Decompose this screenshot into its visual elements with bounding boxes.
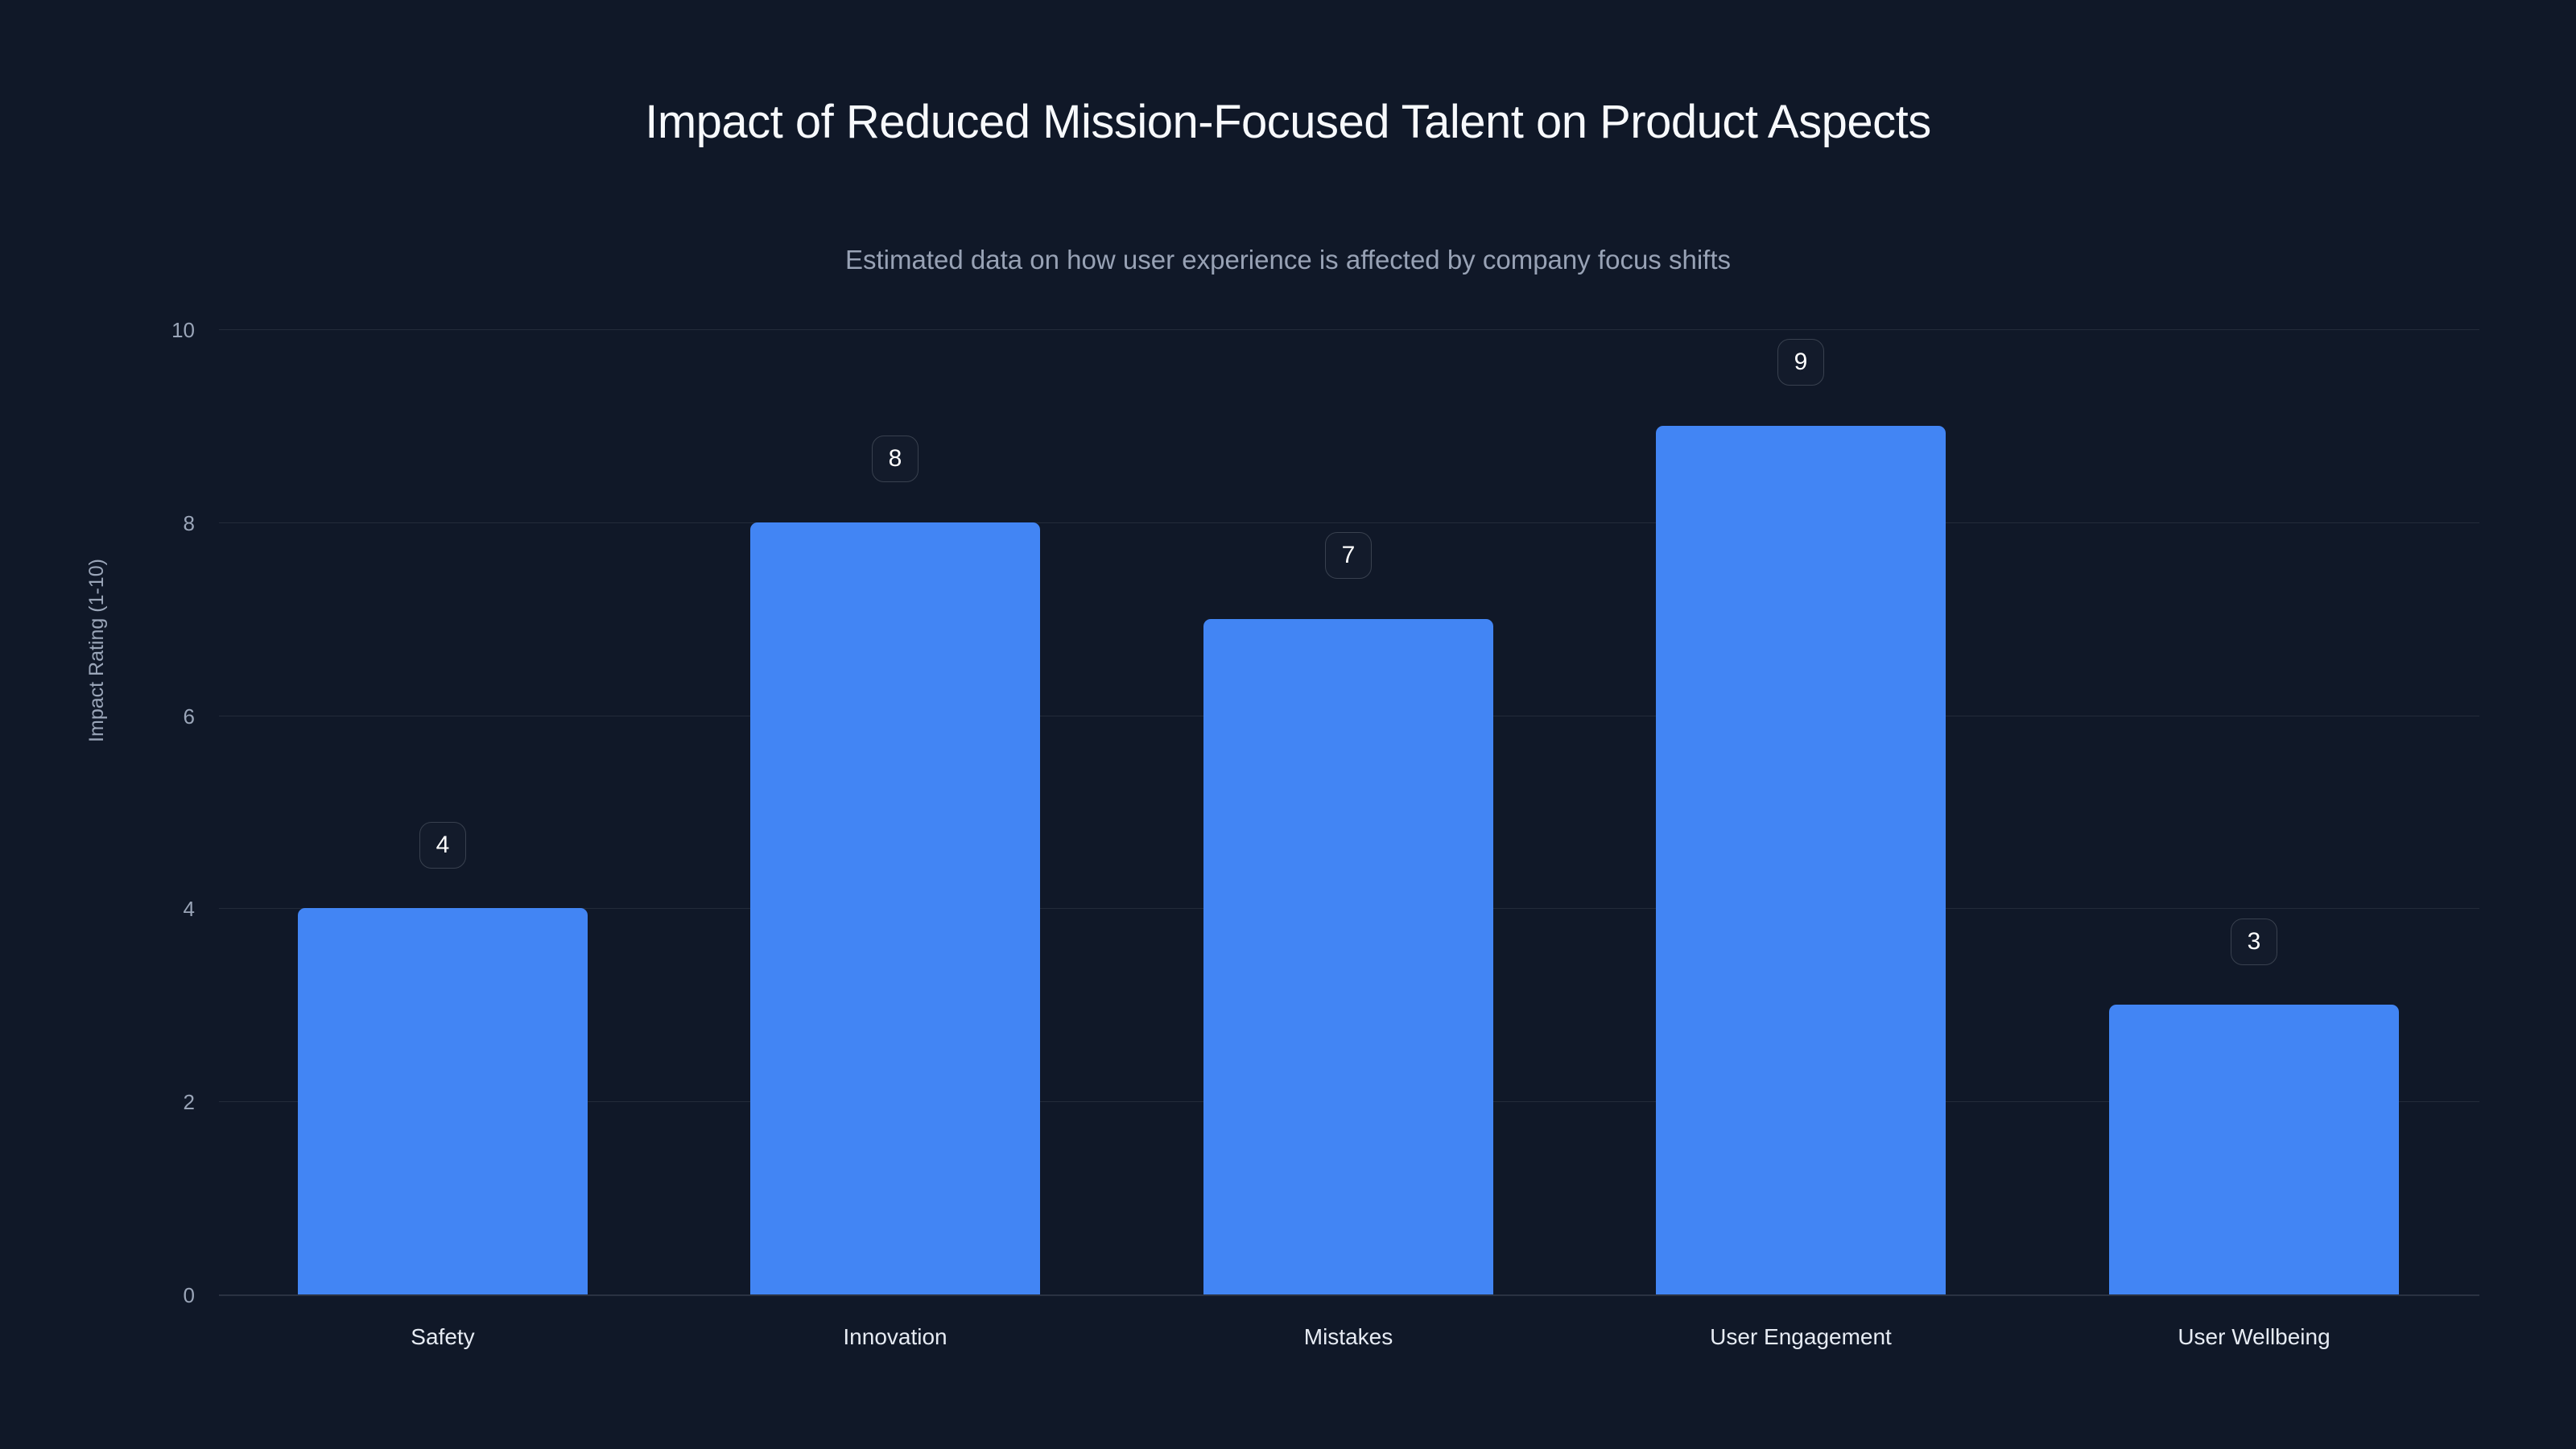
- gridline: [219, 329, 2479, 330]
- bar-innovation[interactable]: [750, 522, 1040, 1294]
- bar-chart-figure: Impact of Reduced Mission-Focused Talent…: [0, 0, 2576, 1449]
- x-tick-label-user-engagement: User Engagement: [1656, 1324, 1946, 1350]
- bar-value-badge-mistakes: 7: [1325, 532, 1372, 579]
- chart-subtitle: Estimated data on how user experience is…: [0, 246, 2576, 275]
- x-tick-label-user-wellbeing: User Wellbeing: [2109, 1324, 2399, 1350]
- y-tick-label: 2: [153, 1090, 195, 1115]
- bar-safety[interactable]: [298, 908, 588, 1294]
- x-tick-label-mistakes: Mistakes: [1203, 1324, 1493, 1350]
- y-axis-title: Impact Rating (1-10): [85, 489, 109, 811]
- y-tick-label: 8: [153, 511, 195, 536]
- y-tick-label: 4: [153, 897, 195, 922]
- y-tick-label: 0: [153, 1283, 195, 1308]
- bar-value-badge-user-wellbeing: 3: [2231, 919, 2277, 965]
- y-tick-label: 10: [153, 318, 195, 343]
- bar-user-wellbeing[interactable]: [2109, 1005, 2399, 1294]
- bar-value-badge-innovation: 8: [872, 436, 919, 482]
- bar-mistakes[interactable]: [1203, 619, 1493, 1294]
- x-tick-label-safety: Safety: [298, 1324, 588, 1350]
- bar-value-badge-safety: 4: [419, 822, 466, 869]
- bar-value-badge-user-engagement: 9: [1777, 339, 1824, 386]
- chart-title: Impact of Reduced Mission-Focused Talent…: [0, 97, 2576, 148]
- x-tick-label-innovation: Innovation: [750, 1324, 1040, 1350]
- x-axis-baseline: [219, 1294, 2479, 1296]
- gridline: [219, 522, 2479, 523]
- bar-user-engagement[interactable]: [1656, 426, 1946, 1294]
- y-tick-label: 6: [153, 704, 195, 729]
